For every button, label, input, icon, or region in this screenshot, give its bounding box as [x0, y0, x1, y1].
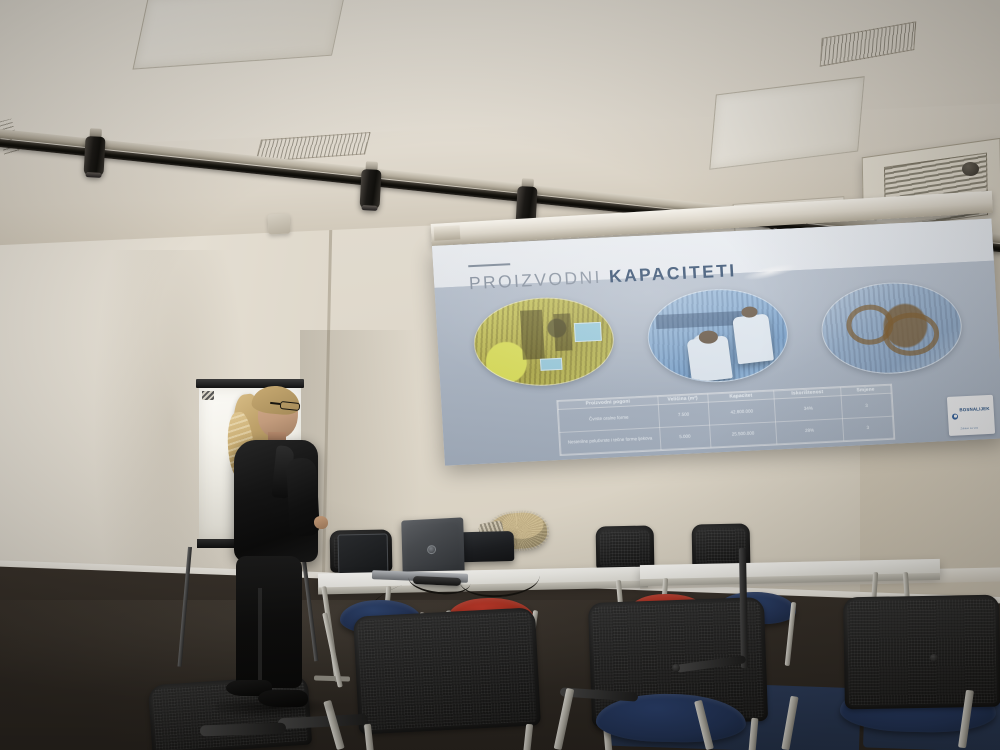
cell-smjene: 3: [842, 416, 893, 440]
flipchart-top-bar: [196, 379, 304, 388]
machine-shape: [520, 309, 545, 360]
coil-shape: [882, 312, 940, 357]
logo-wordmark: BOSNALIJEK: [959, 406, 990, 412]
hmi-screen-shape: [574, 322, 603, 342]
projection-screen: PROIZVODNI KAPACITETI: [432, 219, 1000, 466]
machine-shape: [554, 313, 573, 352]
chair-castor: [930, 654, 938, 662]
ac-sensor-dome: [962, 162, 979, 176]
cell-iskoristenost: 28%: [776, 418, 844, 443]
conference-room-photo: PROIZVODNI KAPACITETI: [0, 0, 1000, 750]
cell-pogon: Nesterilne polučvrste i tečne forme ljek…: [560, 427, 661, 454]
chair-back: [596, 525, 655, 570]
presenter-shoe: [258, 690, 308, 707]
laptop-brand-logo-icon: [427, 545, 436, 554]
chair-mesh: [357, 612, 537, 731]
hmi-screen-shape: [540, 358, 563, 371]
projection-screen-case-end: [434, 225, 461, 241]
presenter-leg-separation: [258, 588, 262, 686]
spotlight-lens: [361, 205, 377, 211]
chair-mesh: [600, 530, 651, 567]
spotlight-barrel: [359, 169, 381, 210]
flipchart-clip: [202, 391, 214, 400]
cell-velicina: 7.500: [658, 403, 709, 427]
chair-mesh: [847, 599, 997, 706]
logo-tagline: Zdravo za vas: [960, 426, 978, 430]
presentation-slide: PROIZVODNI KAPACITETI: [432, 219, 1000, 466]
presenter: [214, 388, 334, 728]
cell-kapacitet: 25.500.000: [709, 421, 777, 446]
laptop: [401, 517, 465, 578]
bosnalijek-mark-icon: [952, 413, 958, 419]
wall-speaker: [267, 213, 290, 234]
presenter-hand: [314, 516, 328, 529]
chair-back: [843, 595, 1000, 710]
slide-company-logo: BOSNALIJEK Zdravo za vas: [947, 395, 996, 436]
cell-smjene: 3: [841, 394, 892, 418]
presenter-trousers: [236, 556, 302, 688]
spotlight-barrel: [83, 136, 105, 177]
cell-velicina: 5.000: [659, 425, 710, 449]
spotlight-lens: [85, 172, 101, 178]
bench-shape: [656, 311, 742, 330]
lab-coat-shape: [732, 314, 774, 365]
chair-castor: [672, 664, 680, 672]
chair-back: [353, 607, 541, 734]
